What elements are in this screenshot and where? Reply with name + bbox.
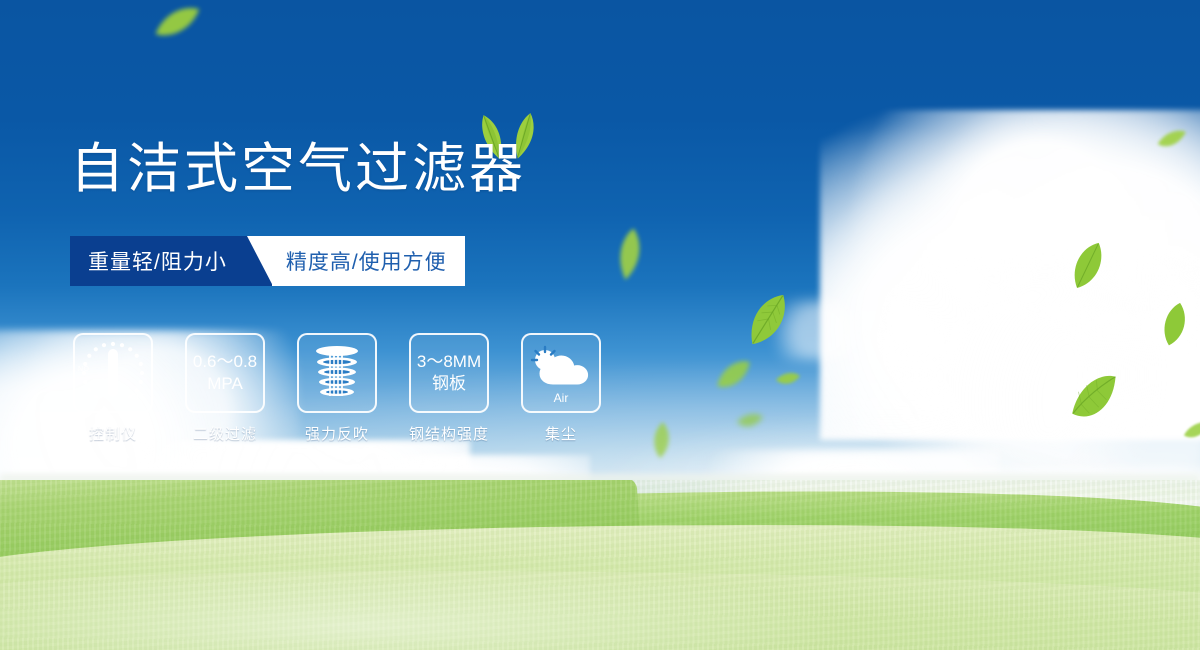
- feature-icon-box: 3～8MM 钢板: [409, 333, 489, 413]
- floating-leaf-12: [648, 420, 674, 460]
- feature-list: NO OFF 控制仪 0.6～0.8 MPA 二级过滤: [72, 333, 602, 444]
- thickness-material: 钢板: [417, 373, 481, 395]
- feature-item-two-stage[interactable]: 0.6～0.8 MPA 二级过滤: [184, 333, 266, 444]
- feature-item-steel[interactable]: 3～8MM 钢板 钢结构强度: [408, 333, 490, 444]
- floating-leaf-7: [1156, 128, 1188, 150]
- cloud-air-label: Air: [529, 391, 593, 405]
- grass-highlight: [0, 480, 1200, 650]
- hero-text-block: 自洁式空气过滤器: [70, 142, 526, 196]
- dial-label-off: OFF: [131, 394, 147, 401]
- floating-leaf-8: [1064, 238, 1110, 292]
- pressure-value: 0.6～0.8: [193, 351, 257, 373]
- feature-item-backblow[interactable]: 强力反吹: [296, 333, 378, 444]
- feature-icon-box: [297, 333, 377, 413]
- feature-label: 控制仪: [89, 423, 137, 444]
- filter-cartridge-icon: [311, 344, 363, 402]
- floating-leaf-2: [612, 226, 646, 282]
- dial-label-on: NO: [78, 366, 90, 373]
- feature-label: 二级过滤: [193, 423, 257, 444]
- feature-icon-box: 0.6～0.8 MPA: [185, 333, 265, 413]
- feature-label: 集尘: [545, 423, 577, 444]
- floating-leaf-5: [775, 370, 801, 388]
- feature-item-dust[interactable]: Air 集尘: [520, 333, 602, 444]
- floating-leaf-11: [1182, 420, 1200, 440]
- floating-leaf-10: [1064, 372, 1126, 424]
- page-title: 自洁式空气过滤器: [70, 142, 526, 196]
- badge-primary: 重量轻/阻力小: [70, 236, 247, 286]
- dial-switch-bar: [108, 349, 118, 397]
- thickness-value: 3～8MM: [417, 351, 481, 373]
- feature-icon-box: Air: [521, 333, 601, 413]
- tagline-badges: 重量轻/阻力小 精度高/使用方便: [70, 236, 465, 286]
- feature-icon-box: NO OFF: [73, 333, 153, 413]
- floating-leaf-9: [1156, 300, 1192, 348]
- badge-slant-divider: [247, 236, 273, 286]
- dial-gauge-icon: NO OFF: [76, 336, 150, 410]
- hero-banner: 自洁式空气过滤器 重量轻/阻力小 精度高/使用方便: [0, 0, 1200, 650]
- cloud-air-icon: Air: [529, 342, 593, 404]
- thickness-text-icon: 3～8MM 钢板: [417, 351, 481, 395]
- feature-label: 钢结构强度: [409, 423, 489, 444]
- feature-item-controller[interactable]: NO OFF 控制仪: [72, 333, 154, 444]
- pressure-unit: MPA: [193, 373, 257, 395]
- floating-leaf-6: [736, 410, 764, 432]
- feature-label: 强力反吹: [305, 423, 369, 444]
- badge-secondary: 精度高/使用方便: [272, 236, 465, 286]
- floating-leaf-3: [740, 288, 794, 350]
- floating-leaf-4: [712, 358, 756, 392]
- grass-field: [0, 480, 1200, 650]
- pressure-text-icon: 0.6～0.8 MPA: [193, 351, 257, 395]
- floating-leaf-1: [150, 6, 206, 40]
